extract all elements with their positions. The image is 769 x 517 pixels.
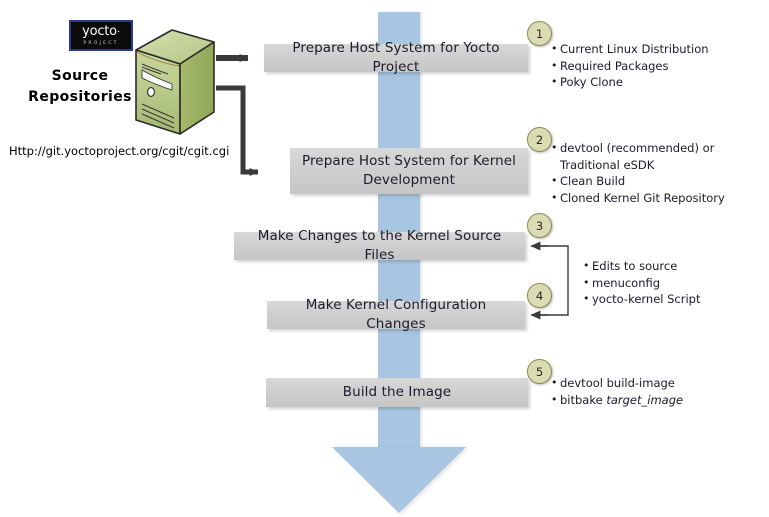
bullet-item: • devtool build-image <box>551 375 751 392</box>
bullet-text: Edits to source <box>592 258 763 275</box>
bullet-text: Clean Build <box>560 173 751 190</box>
source-repositories-label: Source Repositories <box>20 66 140 108</box>
process-box-step1[interactable]: Prepare Host System for Yocto Project <box>264 44 528 72</box>
step-circle-4: 4 <box>527 283 552 308</box>
bullet-item: • yocto-kernel Script <box>583 291 763 308</box>
bullet-item: • Clean Build <box>551 173 751 190</box>
flow-arrow-head <box>332 447 466 513</box>
process-box-step2-line2: Development <box>363 171 455 190</box>
process-box-step4[interactable]: Make Kernel Configuration Changes <box>267 301 525 329</box>
bullet-text: Required Packages <box>560 58 761 75</box>
step-circle-2: 2 <box>527 127 552 152</box>
bullet-item: • menuconfig <box>583 275 763 292</box>
process-box-step3[interactable]: Make Changes to the Kernel Source Files <box>234 232 525 260</box>
bullets-step2: • devtool (recommended) or Traditional e… <box>551 140 751 206</box>
bullets-step5: • devtool build-image • bitbake target_i… <box>551 375 751 408</box>
yocto-project-logo: yocto· PROJECT <box>69 20 133 51</box>
bullets-steps-3-4: • Edits to source • menuconfig • yocto-k… <box>583 258 763 308</box>
bullet-dot-icon: • <box>551 190 560 207</box>
bullet-item: • devtool (recommended) or Traditional e… <box>551 140 751 173</box>
step-circle-5: 5 <box>527 359 552 384</box>
bullet-dot-icon: • <box>551 375 560 392</box>
bullet-dot-icon: • <box>551 392 560 409</box>
bullets-step1: • Current Linux Distribution • Required … <box>551 41 761 91</box>
bullet-text-plain: devtool build-image <box>560 376 675 390</box>
bullet-dot-icon: • <box>583 291 592 308</box>
bullet-text: bitbake target_image <box>560 392 751 409</box>
bullet-item: • Edits to source <box>583 258 763 275</box>
bullet-dot-icon: • <box>583 258 592 275</box>
bullet-text: yocto-kernel Script <box>592 291 763 308</box>
process-box-step2[interactable]: Prepare Host System for Kernel Developme… <box>290 148 528 194</box>
bullet-dot-icon: • <box>551 41 560 58</box>
bullet-text: Cloned Kernel Git Repository <box>560 190 751 207</box>
bullet-text: Current Linux Distribution <box>560 41 761 58</box>
bullet-text-plain: bitbake <box>560 393 606 407</box>
bullet-item: • bitbake target_image <box>551 392 751 409</box>
bullet-text: devtool build-image <box>560 375 751 392</box>
connector-server-to-step2 <box>216 88 258 172</box>
step-circle-3: 3 <box>527 213 552 238</box>
yocto-logo-wordmark: yocto· <box>82 25 120 39</box>
bullet-dot-icon: • <box>551 74 560 91</box>
yocto-logo-dot: · <box>117 27 120 38</box>
step-circle-1: 1 <box>527 21 552 46</box>
bullet-dot-icon: • <box>551 140 560 157</box>
bullet-text: devtool (recommended) or Traditional eSD… <box>560 140 751 173</box>
bullet-item: • Current Linux Distribution <box>551 41 761 58</box>
bullet-dot-icon: • <box>551 173 560 190</box>
yocto-logo-text: yocto <box>82 24 117 39</box>
bullet-item: • Cloned Kernel Git Repository <box>551 190 751 207</box>
bullet-dot-icon: • <box>551 58 560 75</box>
bullet-text-emphasis: target_image <box>606 393 683 407</box>
server-icon <box>128 28 220 140</box>
bullet-text: menuconfig <box>592 275 763 292</box>
yocto-logo-subtitle: PROJECT <box>83 40 118 47</box>
process-box-step5[interactable]: Build the Image <box>266 378 528 407</box>
source-repositories-line2: Repositories <box>20 87 140 108</box>
server-icon-svg <box>128 28 220 140</box>
source-repositories-line1: Source <box>20 66 140 87</box>
bullet-item: • Required Packages <box>551 58 761 75</box>
source-repositories-url: Http://git.yoctoproject.org/cgit/cgit.cg… <box>9 144 229 158</box>
bullet-text: Poky Clone <box>560 74 761 91</box>
process-box-step2-line1: Prepare Host System for Kernel <box>302 152 516 171</box>
bullet-item: • Poky Clone <box>551 74 761 91</box>
bullet-dot-icon: • <box>583 275 592 292</box>
diagram-canvas: yocto· PROJECT Source Repositories Http:… <box>0 0 769 517</box>
